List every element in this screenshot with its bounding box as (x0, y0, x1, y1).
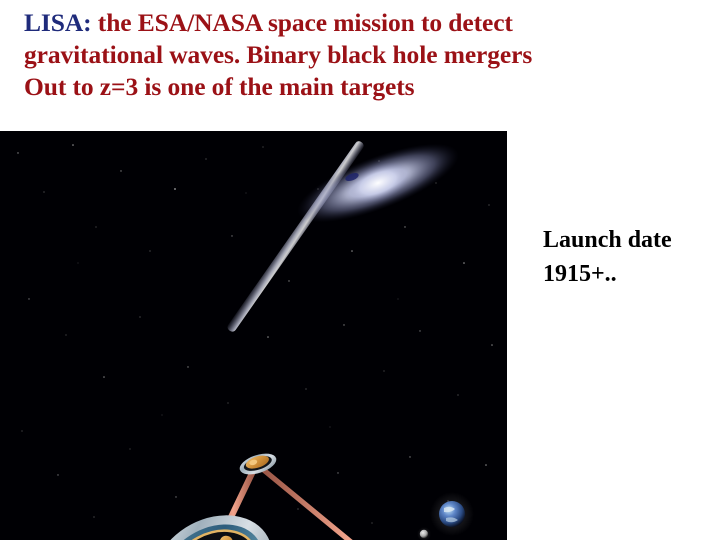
caption-line-2: 1915+.. (543, 257, 720, 291)
title-line-3: Out to z=3 is one of the main targets (24, 71, 704, 103)
title-line-2: gravitational waves. Binary black hole m… (24, 39, 704, 71)
page-title: LISA: the ESA/NASA space mission to dete… (24, 7, 704, 103)
launch-date-caption: Launch date 1915+.. (543, 223, 720, 291)
caption-line-1: Launch date (543, 223, 720, 257)
title-accent: LISA: (24, 8, 92, 37)
moon-globe (420, 530, 428, 538)
earth-globe (439, 501, 465, 527)
slide-canvas: LISA: the ESA/NASA space mission to dete… (0, 0, 720, 540)
title-line-1-rest: the ESA/NASA space mission to detect (92, 8, 513, 37)
space-background (0, 131, 507, 540)
lisa-constellation-image (0, 131, 507, 540)
space-illustration (0, 131, 507, 540)
earth (430, 492, 474, 536)
title-line-1: LISA: the ESA/NASA space mission to dete… (24, 7, 704, 39)
